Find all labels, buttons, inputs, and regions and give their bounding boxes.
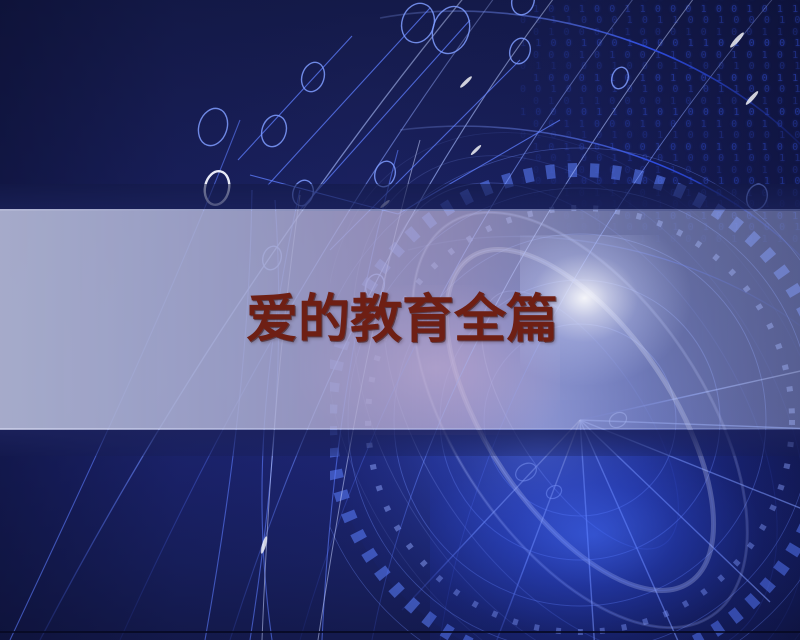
poster-canvas: 0 1 0 0 1 0 0 0 1 1 0 0 0 1 0 1 0 0 11 0… <box>0 0 800 640</box>
poster-title: 爱的教育全篇 <box>246 294 558 346</box>
banner-shadow-bottom <box>0 430 800 456</box>
bottom-edge-line <box>0 631 800 633</box>
banner-shadow-top <box>0 184 800 210</box>
title-area: 爱的教育全篇 <box>0 211 800 429</box>
